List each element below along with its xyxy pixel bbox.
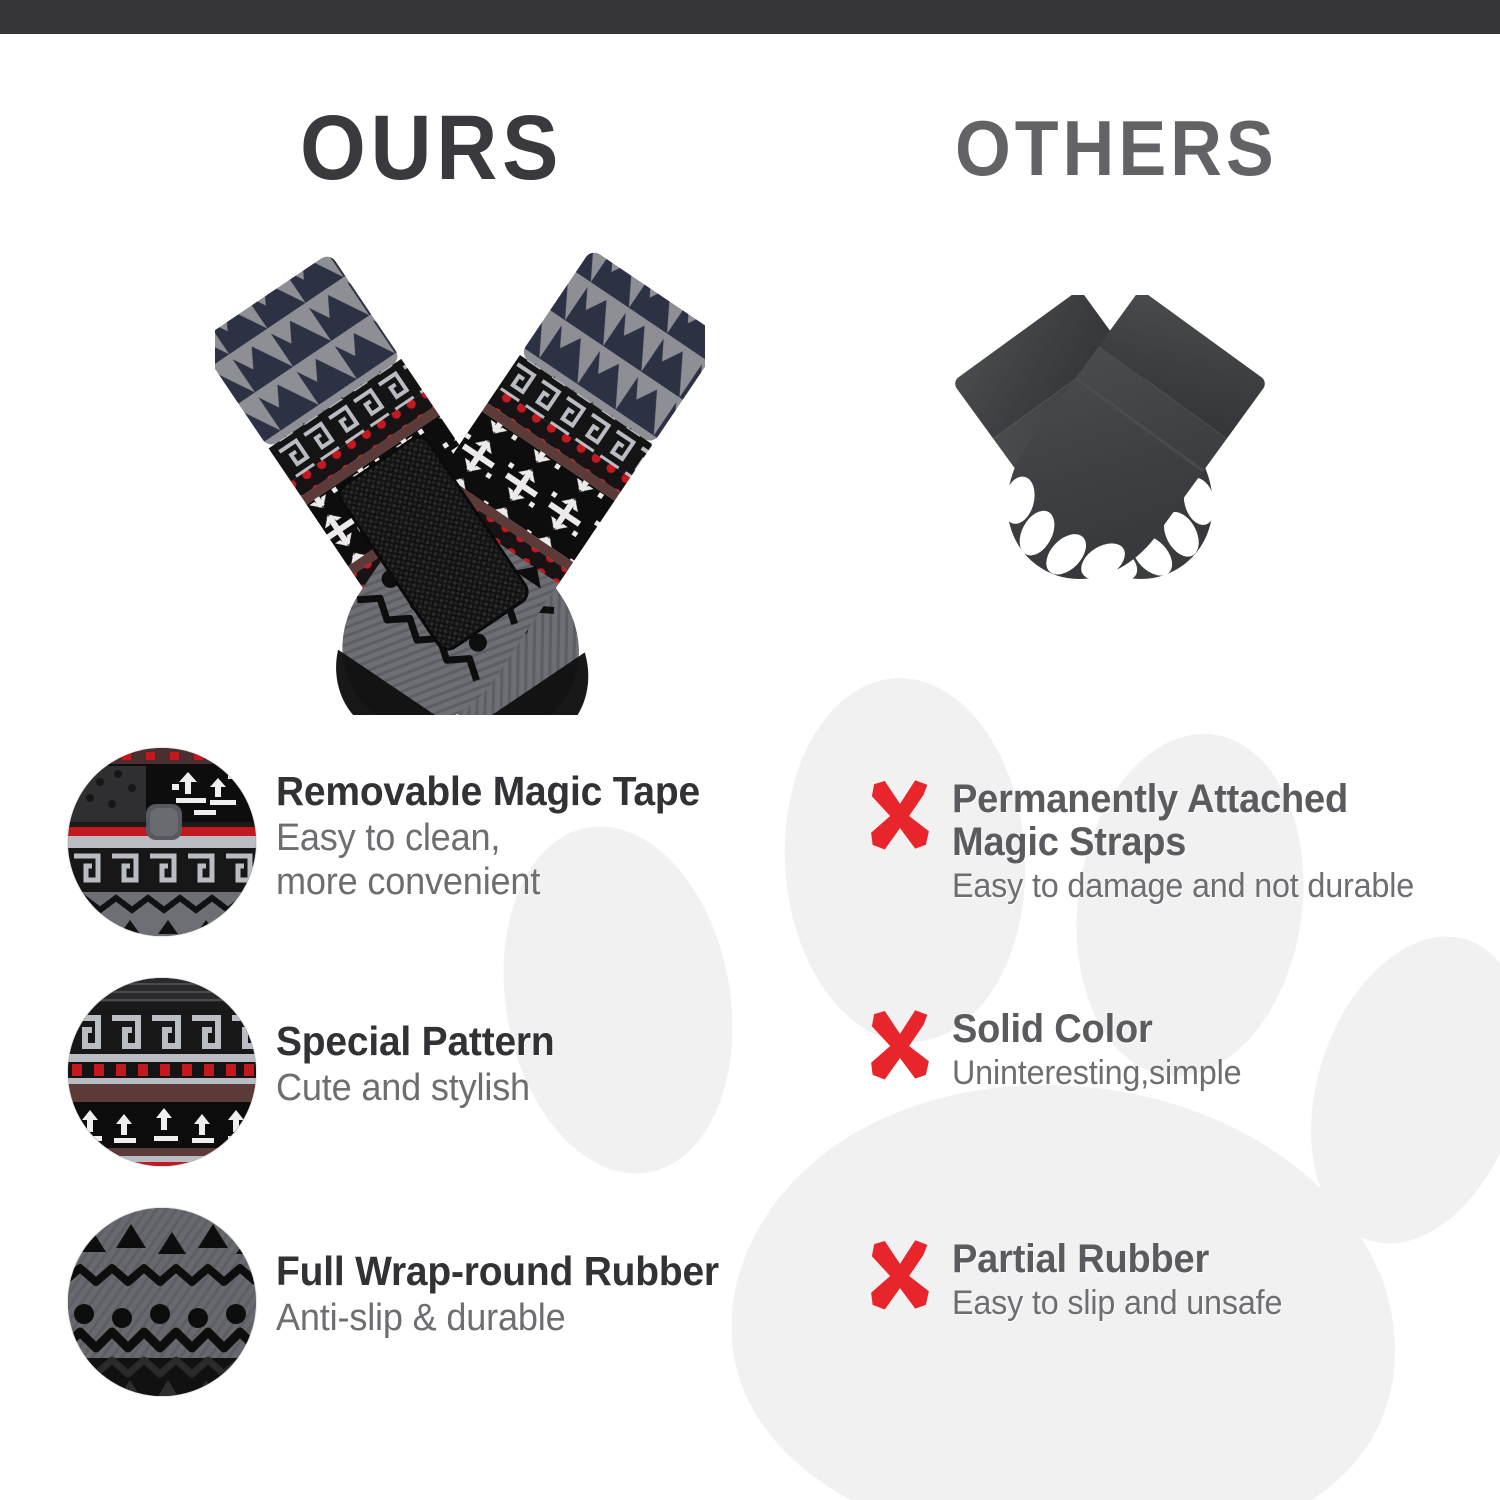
- feature-subtitle-line-2: more convenient: [276, 861, 700, 905]
- feature-row-ours-1: Removable Magic Tape Easy to clean, more…: [68, 748, 828, 938]
- feature-subtitle-line-1: Easy to clean,: [276, 817, 700, 861]
- feature-subtitle: Easy to slip and unsafe: [952, 1284, 1282, 1323]
- thumb-velcro-magic-tape: [68, 748, 256, 936]
- header-others: OTHERS: [955, 103, 1278, 194]
- feature-row-others-2: Solid Color Uninteresting,simple: [862, 1008, 1257, 1093]
- thumb-rubber-sole: [68, 1208, 256, 1396]
- feature-title: Special Pattern: [276, 1020, 554, 1063]
- feature-row-ours-2: Special Pattern Cute and stylish: [68, 978, 828, 1168]
- header-ours: OURS: [300, 96, 563, 201]
- feature-title-line-1: Partial Rubber: [952, 1238, 1282, 1281]
- feature-title-line-1: Permanently Attached: [952, 778, 1414, 821]
- feature-title: Full Wrap-round Rubber: [276, 1250, 719, 1293]
- feature-title-line-2: Magic Straps: [952, 821, 1414, 864]
- feature-subtitle: Easy to damage and not durable: [952, 867, 1414, 906]
- red-x-mark-icon: [862, 1238, 938, 1314]
- feature-title: Removable Magic Tape: [276, 770, 700, 813]
- thumb-knit-pattern: [68, 978, 256, 1166]
- feature-row-others-3: Partial Rubber Easy to slip and unsafe: [862, 1238, 1300, 1323]
- feature-subtitle: Uninteresting,simple: [952, 1054, 1241, 1093]
- feature-row-others-1: Permanently Attached Magic Straps Easy t…: [862, 778, 1438, 905]
- hero-image-others: [935, 295, 1285, 635]
- feature-title-line-1: Solid Color: [952, 1008, 1241, 1051]
- top-accent-bar: [0, 0, 1500, 34]
- feature-subtitle-line-1: Anti-slip & durable: [276, 1297, 719, 1341]
- feature-row-ours-3: Full Wrap-round Rubber Anti-slip & durab…: [68, 1208, 858, 1398]
- feature-subtitle-line-1: Cute and stylish: [276, 1067, 554, 1111]
- red-x-mark-icon: [862, 778, 938, 854]
- red-x-mark-icon: [862, 1008, 938, 1084]
- hero-image-ours: [215, 205, 705, 715]
- infographic-page: OURS OTHERS: [0, 0, 1500, 1500]
